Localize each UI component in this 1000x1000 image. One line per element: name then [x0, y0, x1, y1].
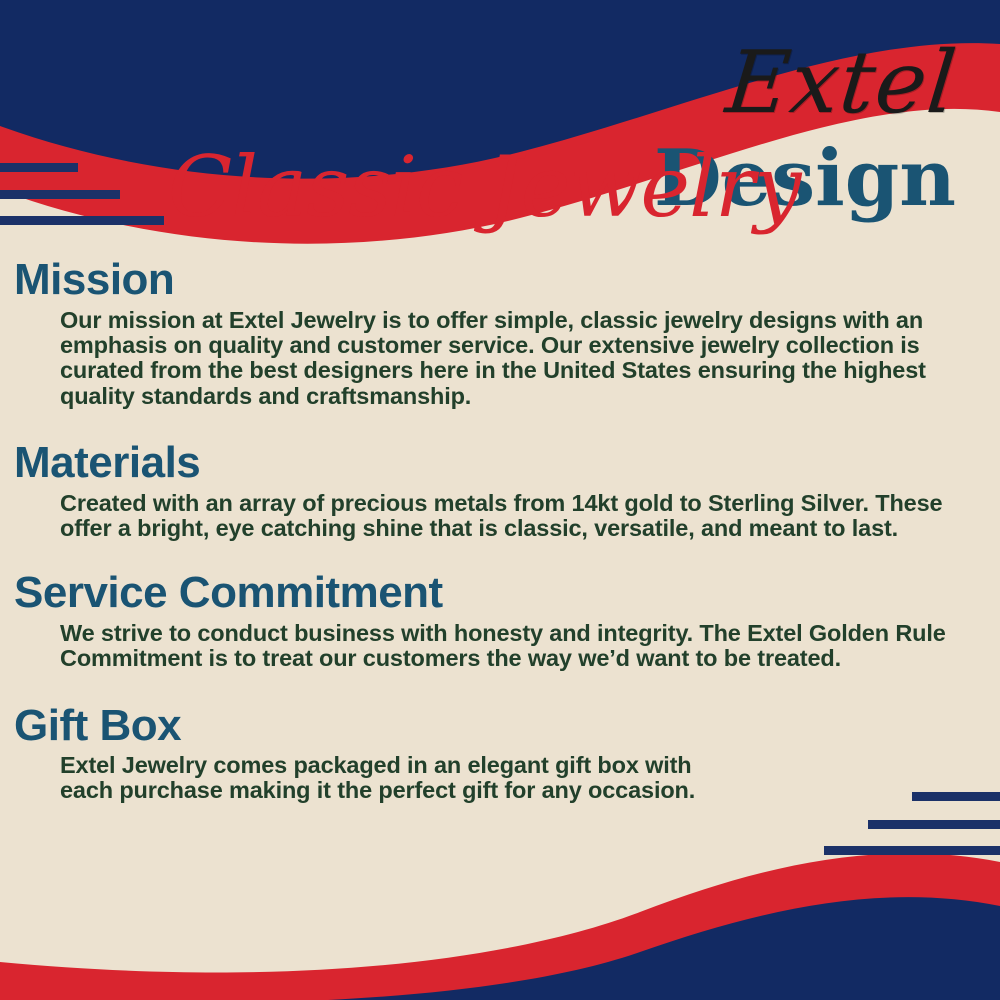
decor-rule-left-1 — [0, 163, 78, 172]
section-service-commitment: Service Commitment We strive to conduct … — [0, 569, 1000, 671]
decor-rule-left-2 — [0, 190, 120, 199]
header: Extel Design Classic Jewelry — [0, 0, 1000, 250]
section-heading-gift-box: Gift Box — [0, 702, 1000, 750]
section-body-mission: Our mission at Extel Jewelry is to offer… — [0, 308, 1000, 410]
bottom-navy-wave — [0, 897, 1000, 1000]
poster-canvas: Extel Design Classic Jewelry Mission Our… — [0, 0, 1000, 1000]
decor-rule-right-3 — [824, 846, 1000, 855]
section-heading-materials: Materials — [0, 439, 1000, 487]
brand-script-extel: Extel — [722, 40, 960, 126]
section-gift-box: Gift Box Extel Jewelry comes packaged in… — [0, 702, 1000, 804]
decor-rule-right-2 — [868, 820, 1000, 829]
section-heading-service-commitment: Service Commitment — [0, 569, 1000, 617]
section-body-gift-box: Extel Jewelry comes packaged in an elega… — [0, 753, 1000, 804]
section-body-materials: Created with an array of precious metals… — [0, 491, 1000, 542]
section-mission: Mission Our mission at Extel Jewelry is … — [0, 256, 1000, 409]
section-body-service-commitment: We strive to conduct business with hones… — [0, 621, 1000, 672]
section-materials: Materials Created with an array of preci… — [0, 439, 1000, 541]
bottom-red-wave — [0, 853, 1000, 1000]
section-heading-mission: Mission — [0, 256, 1000, 304]
page-title: Classic Jewelry — [168, 143, 801, 231]
decor-rule-left-3 — [0, 216, 164, 225]
decor-rule-right-1 — [912, 792, 1000, 801]
content-area: Mission Our mission at Extel Jewelry is … — [0, 250, 1000, 804]
